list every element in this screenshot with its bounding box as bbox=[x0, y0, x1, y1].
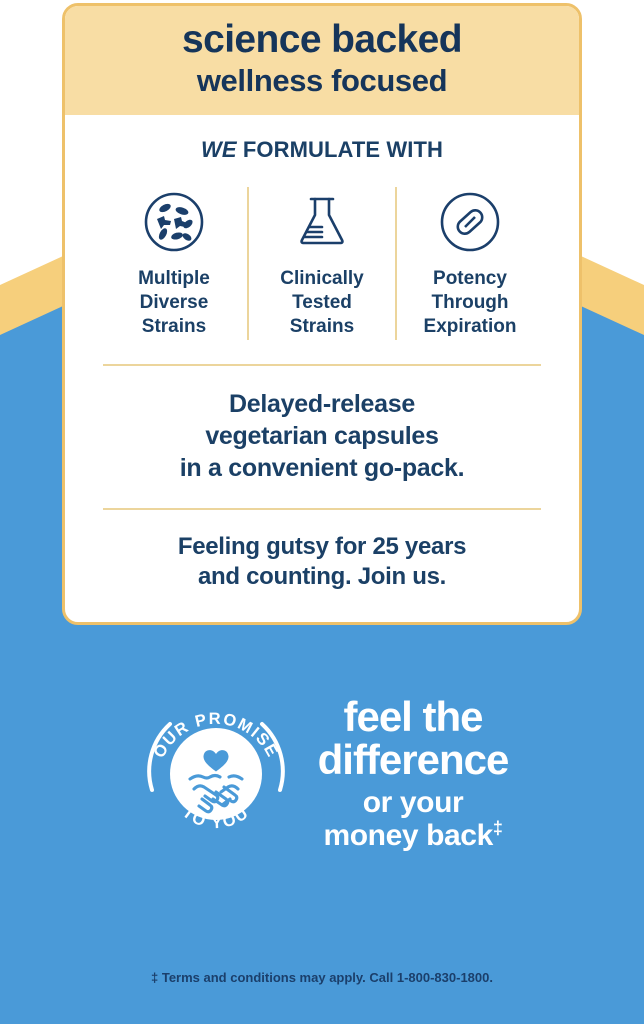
formulate-heading-emphasis: WE bbox=[201, 137, 237, 162]
capsule-paragraph: Delayed-release vegetarian capsules in a… bbox=[87, 388, 557, 484]
feature-label: Potency Through Expiration bbox=[403, 267, 537, 340]
card-body: WE FORMULATE WITH bbox=[65, 115, 579, 593]
moneyback-line-1: feel the bbox=[318, 696, 509, 739]
divider-upper bbox=[103, 364, 541, 366]
feature-label: Clinically Tested Strains bbox=[255, 267, 389, 340]
headline-primary: science backed bbox=[75, 20, 569, 61]
moneyback-line-4-text: money back bbox=[323, 819, 492, 852]
our-promise-to-you-badge: OUR PROMISE TO YOU bbox=[136, 694, 296, 854]
headline-secondary: wellness focused bbox=[75, 63, 569, 99]
double-dagger-footnote-marker: ‡ bbox=[493, 818, 503, 838]
info-card: science backed wellness focused WE FORMU… bbox=[62, 3, 582, 625]
bacteria-strains-icon bbox=[107, 187, 241, 257]
formulate-heading-rest: FORMULATE WITH bbox=[237, 137, 443, 162]
flask-icon bbox=[255, 187, 389, 257]
divider-lower bbox=[103, 508, 541, 510]
moneyback-line-2: difference bbox=[318, 739, 509, 782]
feature-row: Multiple Diverse Strains bbox=[87, 187, 557, 340]
product-benefits-panel: science backed wellness focused WE FORMU… bbox=[0, 0, 644, 1024]
feature-potency-through-expiration: Potency Through Expiration bbox=[395, 187, 543, 340]
capsule-icon bbox=[403, 187, 537, 257]
feature-multiple-diverse-strains: Multiple Diverse Strains bbox=[101, 187, 247, 340]
footer-disclaimer: ‡ Terms and conditions may apply. Call 1… bbox=[0, 970, 644, 985]
formulate-heading: WE FORMULATE WITH bbox=[87, 137, 557, 163]
money-back-guarantee-text: feel the difference or your money back‡ bbox=[318, 690, 509, 852]
closing-paragraph: Feeling gutsy for 25 years and counting.… bbox=[87, 532, 557, 593]
card-header: science backed wellness focused bbox=[65, 6, 579, 115]
feature-clinically-tested-strains: Clinically Tested Strains bbox=[247, 187, 395, 340]
moneyback-line-3: or your bbox=[318, 786, 509, 819]
promise-section: OUR PROMISE TO YOU feel the difference o… bbox=[0, 690, 644, 854]
feature-label: Multiple Diverse Strains bbox=[107, 267, 241, 340]
moneyback-line-4: money back‡ bbox=[318, 819, 509, 852]
